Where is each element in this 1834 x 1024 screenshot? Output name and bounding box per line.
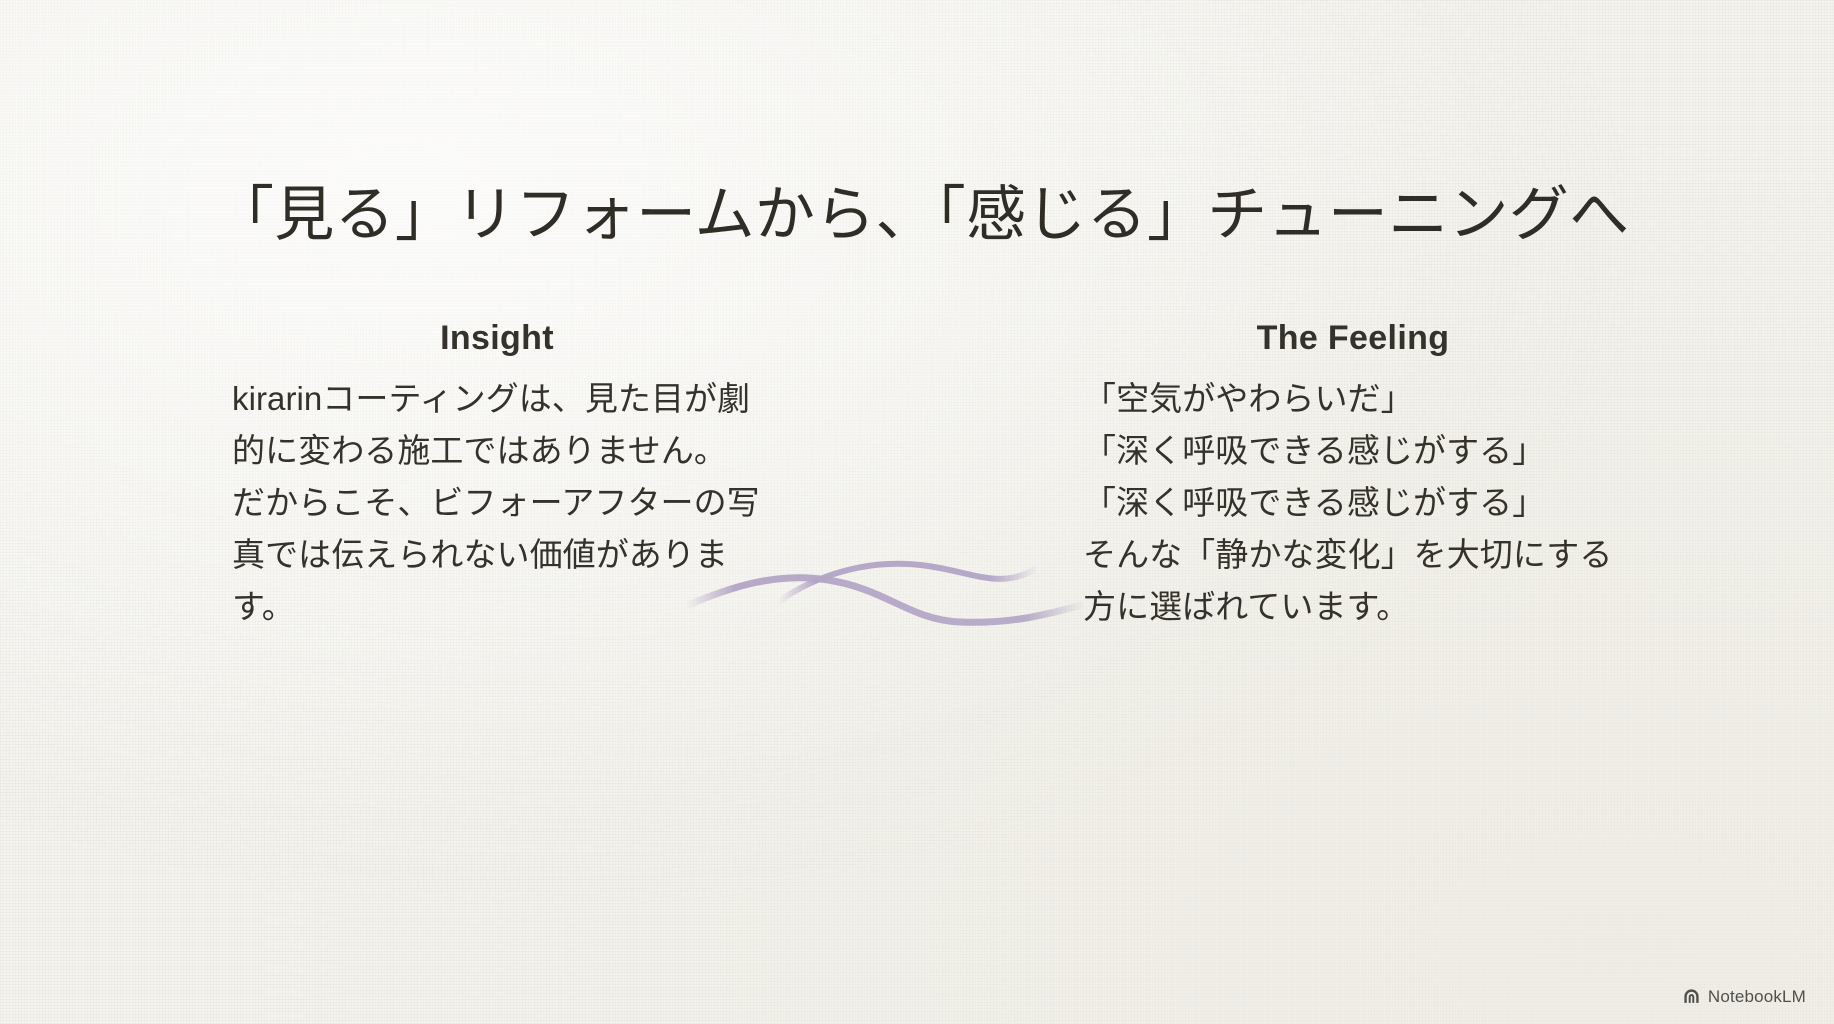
notebooklm-watermark: NotebookLM <box>1682 987 1806 1006</box>
notebooklm-logo-icon <box>1682 987 1701 1006</box>
notebooklm-watermark-label: NotebookLM <box>1708 988 1806 1005</box>
column-heading-insight: Insight <box>232 318 762 359</box>
column-body-insight: kirarinコーティングは、見た目が劇的に変わる施工ではありません。 だからこ… <box>232 373 762 634</box>
column-heading-the-feeling: The Feeling <box>1083 318 1623 359</box>
column-the-feeling: The Feeling 「空気がやわらいだ」 「深く呼吸できる感じがする」 「深… <box>1083 318 1623 633</box>
column-body-the-feeling: 「空気がやわらいだ」 「深く呼吸できる感じがする」 「深く呼吸できる感じがする」… <box>1083 373 1623 634</box>
slide-title: 「見る」リフォームから、「感じる」チューニングへ <box>214 180 1634 251</box>
column-insight: Insight kirarinコーティングは、見た目が劇的に変わる施工ではありま… <box>232 318 762 633</box>
content-columns: Insight kirarinコーティングは、見た目が劇的に変わる施工ではありま… <box>0 318 1834 738</box>
slide-canvas: 「見る」リフォームから、「感じる」チューニングへ Insight kirarin… <box>0 0 1834 1024</box>
